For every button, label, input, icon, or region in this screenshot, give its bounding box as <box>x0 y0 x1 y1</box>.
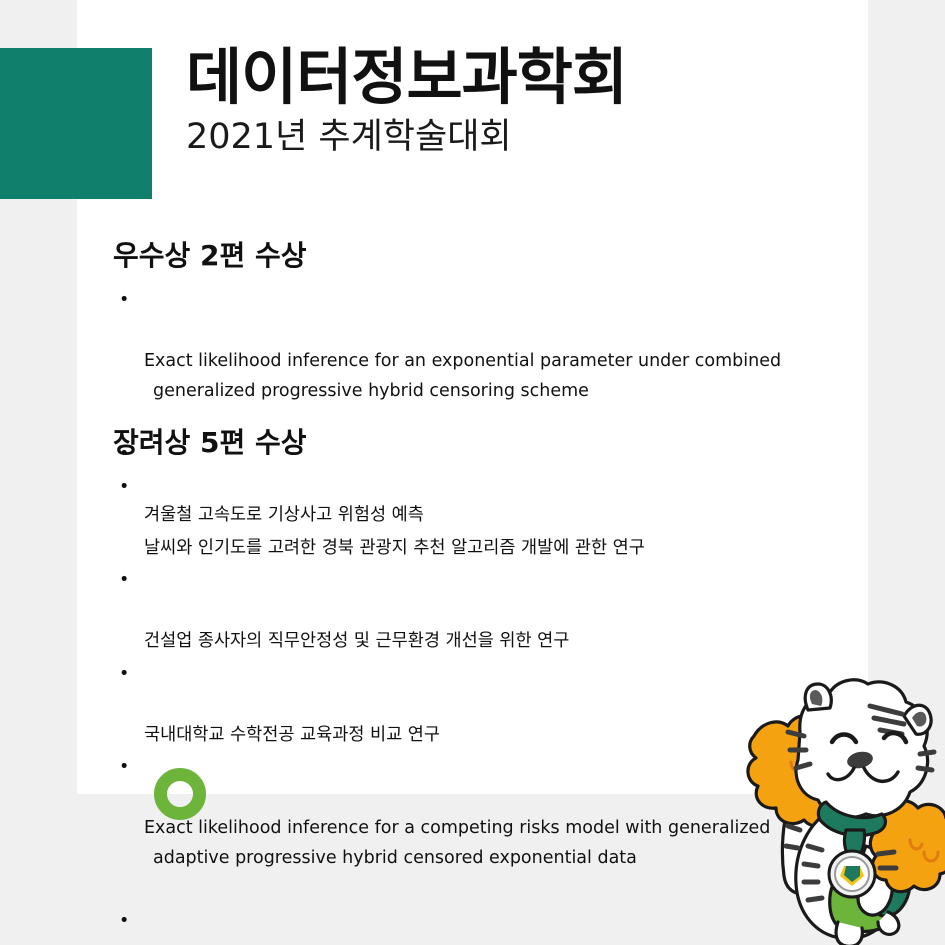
slide-header: 데이터정보과학회 2021년 추계학술대회 <box>186 46 826 158</box>
bullet-icon: • <box>119 472 129 502</box>
list-item: • Exact likelihood inference for an expo… <box>113 285 873 437</box>
list-item: • 날씨와 인기도를 고려한 경북 관광지 추천 알고리즘 개발에 관한 연구 <box>113 472 873 563</box>
list-item-line1: 날씨와 인기도를 고려한 경북 관광지 추천 알고리즘 개발에 관한 연구 <box>144 538 645 558</box>
list-item-line1: 국내대학교 수학전공 교육과정 비교 연구 <box>144 725 440 745</box>
list-item-line1: 건설업 종사자의 직무안정성 및 근무환경 개선을 위한 연구 <box>144 631 569 651</box>
bullet-icon: • <box>119 659 129 689</box>
list-item-line1: Exact likelihood inference for a competi… <box>144 818 770 838</box>
list-item-line1: Exact likelihood inference for an expone… <box>144 351 781 371</box>
slide-canvas: 데이터정보과학회 2021년 추계학술대회 우수상 2편 수상 • Exact … <box>0 0 945 945</box>
list-item-line2: generalized progressive hybrid censoring… <box>144 376 873 406</box>
bullet-icon: • <box>119 565 129 595</box>
white-tiger-cheerleader-mascot <box>688 676 945 945</box>
teal-accent-block <box>0 48 152 199</box>
bullet-icon: • <box>119 906 129 936</box>
list-item: • 건설업 종사자의 직무안정성 및 근무환경 개선을 위한 연구 <box>113 565 873 656</box>
bullet-icon: • <box>119 752 129 782</box>
green-ring-icon <box>154 768 206 820</box>
section-heading: 우수상 2편 수상 <box>113 238 873 273</box>
section-heading: 장려상 5편 수상 <box>113 425 873 460</box>
page-title: 데이터정보과학회 <box>186 46 826 110</box>
page-subtitle: 2021년 추계학술대회 <box>186 116 826 158</box>
bullet-icon: • <box>119 285 129 315</box>
